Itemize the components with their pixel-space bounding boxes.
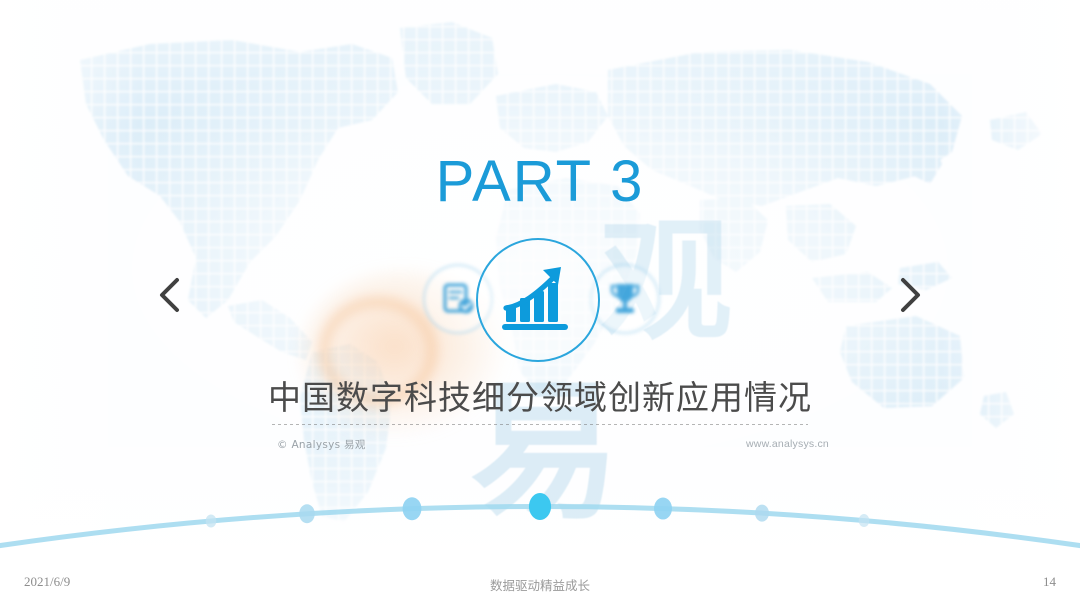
progress-arc	[0, 455, 1080, 550]
slide-footer: 2021/6/9 数据驱动精益成长 14	[0, 560, 1080, 608]
prev-slide-button[interactable]	[147, 272, 193, 318]
progress-dot[interactable]	[654, 498, 672, 520]
trophy-icon	[590, 264, 660, 334]
document-check-glyph	[439, 280, 477, 318]
footer-tagline: 数据驱动精益成长	[0, 575, 1080, 594]
part-title: PART 3	[0, 148, 1080, 215]
subtitle-divider	[272, 424, 808, 425]
progress-dot[interactable]	[206, 514, 217, 527]
progress-dot[interactable]	[299, 504, 315, 523]
progress-dot[interactable]	[403, 497, 422, 520]
chevron-left-icon	[155, 275, 185, 315]
arc-dot-group	[206, 493, 870, 527]
progress-arc-svg	[0, 455, 1080, 550]
copyright-label: © Analysys 易观	[277, 437, 366, 452]
slide-subtitle: 中国数字科技细分领域创新应用情况	[0, 371, 1080, 419]
footer-page-number: 14	[1043, 574, 1056, 590]
bar-chart-growth-glyph	[499, 264, 577, 336]
trophy-glyph	[608, 281, 642, 317]
next-slide-button[interactable]	[887, 272, 933, 318]
chevron-right-icon	[895, 275, 925, 315]
website-label[interactable]: www.analysys.cn	[746, 438, 829, 450]
bar-chart-growth-icon	[476, 238, 600, 362]
progress-dot[interactable]	[529, 493, 551, 520]
progress-dot[interactable]	[859, 514, 870, 527]
slide-canvas: 易 观 PART 3	[0, 0, 1080, 608]
progress-dot[interactable]	[755, 505, 769, 522]
